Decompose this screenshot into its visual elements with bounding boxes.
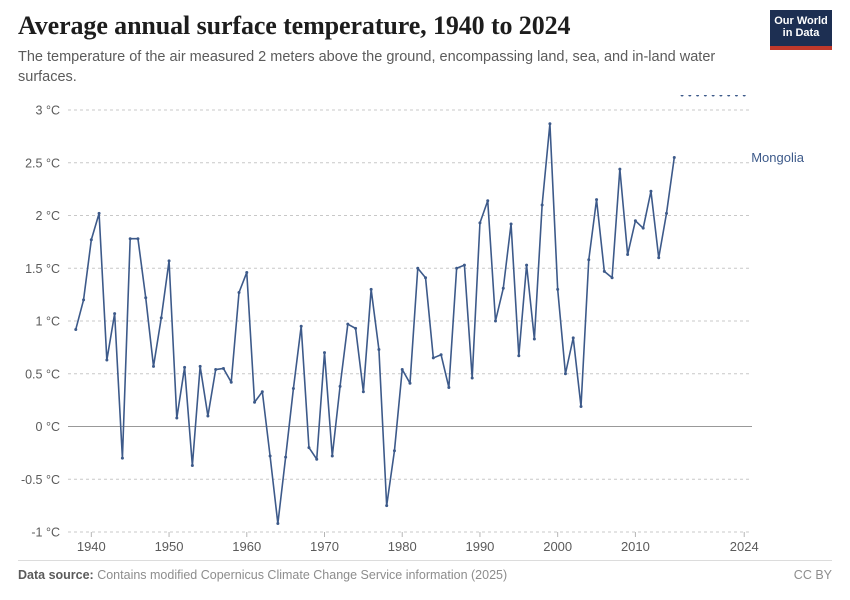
y-axis-tick-label: 2 °C xyxy=(36,209,60,223)
series-data-point[interactable] xyxy=(432,356,435,359)
series-data-point[interactable] xyxy=(144,296,147,299)
series-data-point[interactable] xyxy=(401,368,404,371)
series-data-point[interactable] xyxy=(642,227,645,230)
gridlines-group xyxy=(68,110,752,532)
series-data-point[interactable] xyxy=(152,365,155,368)
license-label[interactable]: CC BY xyxy=(794,568,832,582)
logo-line-1: Our World xyxy=(774,15,828,27)
series-data-point[interactable] xyxy=(603,270,606,273)
series-data-point[interactable] xyxy=(136,237,139,240)
series-data-point[interactable] xyxy=(409,382,412,385)
logo-accent-bar xyxy=(770,46,832,50)
series-data-point[interactable] xyxy=(346,323,349,326)
series-data-point[interactable] xyxy=(105,359,108,362)
series-data-point[interactable] xyxy=(424,276,427,279)
series-data-point[interactable] xyxy=(649,190,652,193)
series-data-point[interactable] xyxy=(618,168,621,171)
line-chart-svg[interactable]: 3 °C2.5 °C2 °C1.5 °C1 °C0.5 °C0 °C-0.5 °… xyxy=(0,95,850,555)
series-data-point[interactable] xyxy=(533,337,536,340)
series-data-point[interactable] xyxy=(681,95,684,97)
series-data-point[interactable] xyxy=(564,372,567,375)
series-end-label[interactable]: Mongolia xyxy=(751,150,805,165)
series-data-point[interactable] xyxy=(113,312,116,315)
series-data-point[interactable] xyxy=(743,95,746,97)
series-data-point[interactable] xyxy=(486,199,489,202)
series-data-point[interactable] xyxy=(354,327,357,330)
data-source-text: Contains modified Copernicus Climate Cha… xyxy=(94,568,507,582)
series-data-point[interactable] xyxy=(90,238,93,241)
page-title: Average annual surface temperature, 1940… xyxy=(18,10,830,41)
series-data-point[interactable] xyxy=(447,386,450,389)
series-data-point[interactable] xyxy=(471,376,474,379)
series-data-point[interactable] xyxy=(276,522,279,525)
series-data-point[interactable] xyxy=(626,253,629,256)
y-axis-tick-label: 1.5 °C xyxy=(25,262,60,276)
series-line-mongolia[interactable] xyxy=(76,124,675,524)
x-axis-tick-label: 2010 xyxy=(621,539,650,554)
y-axis-tick-label: 2.5 °C xyxy=(25,156,60,170)
series-data-point[interactable] xyxy=(222,367,225,370)
series-data-point[interactable] xyxy=(735,95,738,97)
series-data-point[interactable] xyxy=(300,325,303,328)
series-data-point[interactable] xyxy=(494,320,497,323)
series-data-point[interactable] xyxy=(385,504,388,507)
owid-logo[interactable]: Our World in Data xyxy=(770,10,832,50)
series-data-point[interactable] xyxy=(253,401,256,404)
series-data-point[interactable] xyxy=(331,455,334,458)
series-data-point[interactable] xyxy=(510,222,513,225)
series-data-point[interactable] xyxy=(517,354,520,357)
series-data-point[interactable] xyxy=(284,456,287,459)
series-data-point[interactable] xyxy=(245,271,248,274)
series-data-point[interactable] xyxy=(370,288,373,291)
series-data-point[interactable] xyxy=(238,291,241,294)
series-data-point[interactable] xyxy=(502,287,505,290)
series-data-point[interactable] xyxy=(525,264,528,267)
series-data-point[interactable] xyxy=(168,259,171,262)
x-axis-tick-label: 1970 xyxy=(310,539,339,554)
series-data-point[interactable] xyxy=(393,449,396,452)
series-data-point[interactable] xyxy=(634,219,637,222)
chart-footer: Data source: Contains modified Copernicu… xyxy=(18,568,832,582)
y-axis-labels-group: 3 °C2.5 °C2 °C1.5 °C1 °C0.5 °C0 °C-0.5 °… xyxy=(21,104,60,540)
chart-area[interactable]: 3 °C2.5 °C2 °C1.5 °C1 °C0.5 °C0 °C-0.5 °… xyxy=(0,95,850,555)
logo-line-2: in Data xyxy=(783,27,820,39)
x-axis-tick-label: 1980 xyxy=(388,539,417,554)
series-data-point[interactable] xyxy=(183,366,186,369)
series-data-point[interactable] xyxy=(74,328,77,331)
series-data-point[interactable] xyxy=(315,458,318,461)
x-axis-tick-label: 1940 xyxy=(77,539,106,554)
x-axis-labels-group: 194019501960197019801990200020102024 xyxy=(77,539,759,554)
series-data-point[interactable] xyxy=(572,336,575,339)
series-data-point[interactable] xyxy=(377,348,380,351)
y-axis-tick-label: 0 °C xyxy=(36,420,60,434)
x-axis-tick-label: 1990 xyxy=(465,539,494,554)
series-data-point[interactable] xyxy=(191,464,194,467)
footer-divider xyxy=(18,560,832,561)
series-data-point[interactable] xyxy=(206,414,209,417)
series-data-point[interactable] xyxy=(696,95,699,97)
series-data-point[interactable] xyxy=(719,95,722,97)
series-data-point[interactable] xyxy=(455,267,458,270)
series-data-point[interactable] xyxy=(440,353,443,356)
series-data-point[interactable] xyxy=(704,95,707,97)
series-data-point[interactable] xyxy=(230,381,233,384)
series-data-point[interactable] xyxy=(261,390,264,393)
x-axis-tick-label: 2000 xyxy=(543,539,572,554)
y-axis-tick-label: 0.5 °C xyxy=(25,367,60,381)
series-data-point[interactable] xyxy=(339,385,342,388)
series-data-point[interactable] xyxy=(362,390,365,393)
series-data-point[interactable] xyxy=(121,457,124,460)
series-data-point[interactable] xyxy=(214,368,217,371)
series-data-point[interactable] xyxy=(727,95,730,97)
series-data-point[interactable] xyxy=(292,387,295,390)
x-axis-ticks-group xyxy=(91,532,744,537)
series-data-point[interactable] xyxy=(657,256,660,259)
series-data-point[interactable] xyxy=(541,203,544,206)
series-data-point[interactable] xyxy=(478,221,481,224)
x-axis-tick-label: 1950 xyxy=(155,539,184,554)
series-data-point[interactable] xyxy=(611,276,614,279)
series-end-label-group[interactable]: Mongolia xyxy=(751,150,805,165)
series-data-point[interactable] xyxy=(129,237,132,240)
x-axis-tick-label: 2024 xyxy=(730,539,759,554)
series-data-point[interactable] xyxy=(323,351,326,354)
series-data-point[interactable] xyxy=(580,405,583,408)
series-data-point[interactable] xyxy=(665,212,668,215)
series-data-point[interactable] xyxy=(595,198,598,201)
series-data-point[interactable] xyxy=(269,455,272,458)
series-data-point[interactable] xyxy=(463,264,466,267)
series-data-point[interactable] xyxy=(673,156,676,159)
x-axis-tick-label: 1960 xyxy=(232,539,261,554)
series-data-point[interactable] xyxy=(307,446,310,449)
chart-subtitle: The temperature of the air measured 2 me… xyxy=(18,48,733,87)
y-axis-tick-label: -0.5 °C xyxy=(21,473,60,487)
series-data-point[interactable] xyxy=(548,122,551,125)
series-data-point[interactable] xyxy=(160,316,163,319)
chart-header: Average annual surface temperature, 1940… xyxy=(18,10,830,87)
series-data-point[interactable] xyxy=(82,298,85,301)
y-axis-tick-label: 3 °C xyxy=(36,104,60,118)
y-axis-tick-label: -1 °C xyxy=(31,526,60,540)
y-axis-tick-label: 1 °C xyxy=(36,315,60,329)
series-data-point[interactable] xyxy=(587,258,590,261)
series-data-point[interactable] xyxy=(199,365,202,368)
series-data-point[interactable] xyxy=(712,95,715,97)
series-group[interactable] xyxy=(74,95,745,525)
series-data-point[interactable] xyxy=(98,212,101,215)
data-source-label: Data source: xyxy=(18,568,94,582)
series-data-point[interactable] xyxy=(416,267,419,270)
series-data-point[interactable] xyxy=(688,95,691,97)
series-data-point[interactable] xyxy=(556,288,559,291)
series-data-point[interactable] xyxy=(175,417,178,420)
